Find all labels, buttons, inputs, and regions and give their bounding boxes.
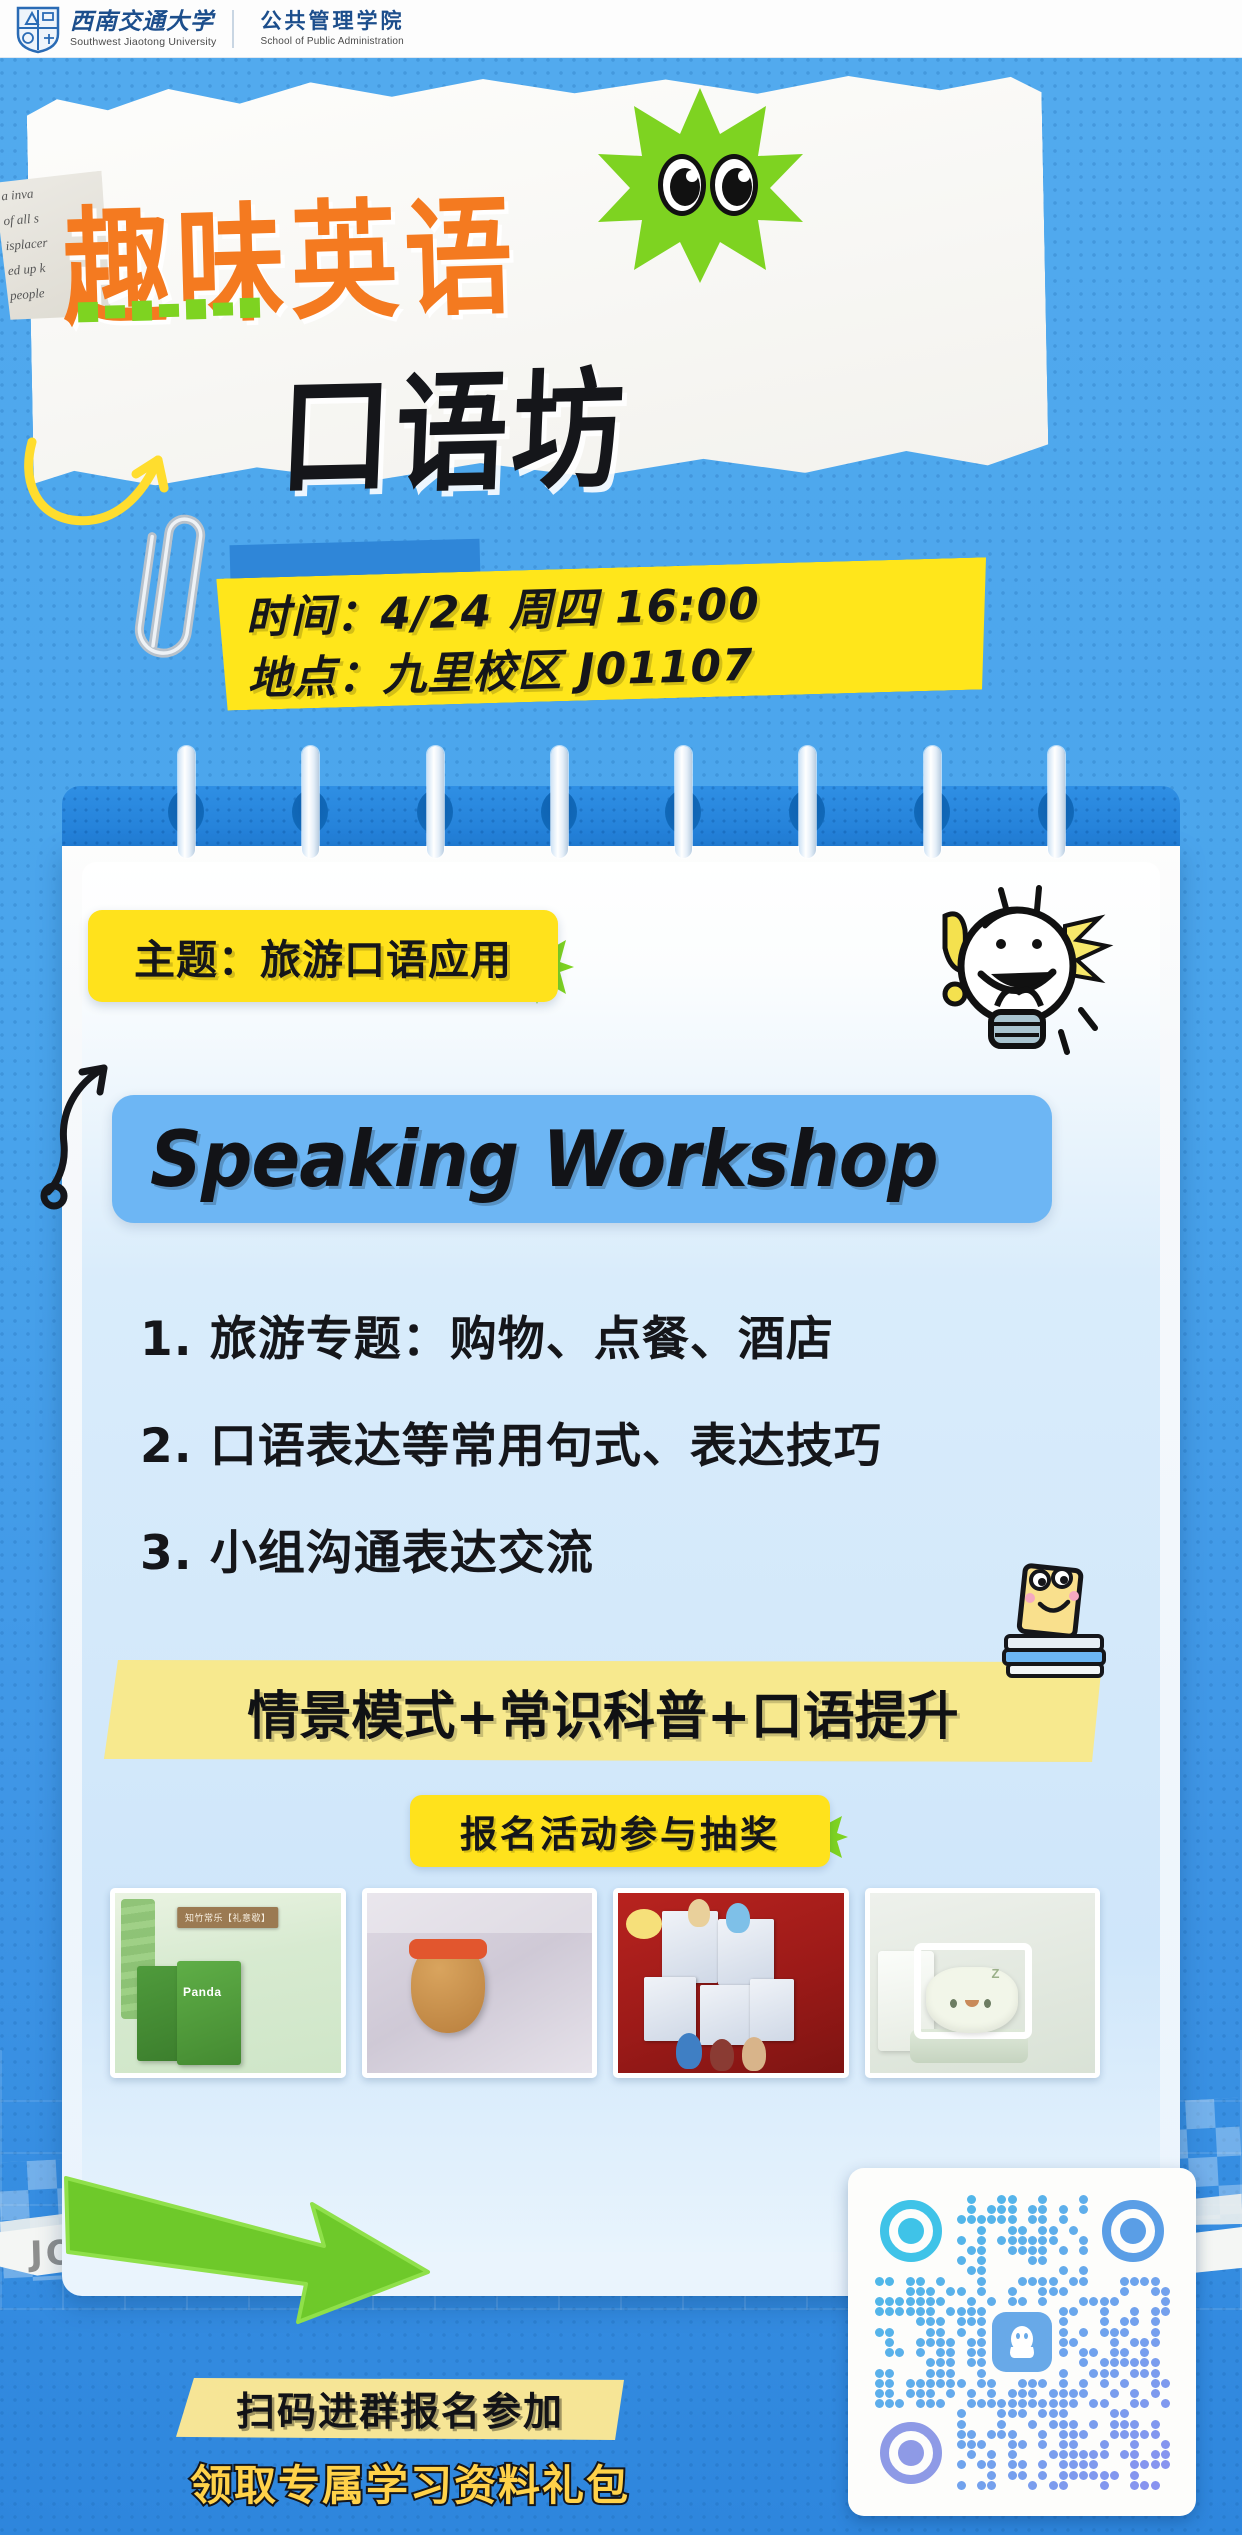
qr-dot xyxy=(1038,2226,1047,2235)
qr-dot xyxy=(946,2369,955,2378)
agenda-item: 3. 小组沟通表达交流 xyxy=(140,1514,1120,1583)
qr-dot xyxy=(977,2215,986,2224)
qr-dot xyxy=(1008,2471,1017,2480)
qr-dot xyxy=(1059,2348,1068,2357)
qr-dot xyxy=(1049,2277,1058,2286)
qr-dot xyxy=(1151,2460,1160,2469)
spiral-ring xyxy=(1048,746,1065,858)
prize-photo-row: 知竹常乐【礼意歇】 Panda Z xyxy=(110,1888,1100,2078)
qr-dot xyxy=(957,2256,966,2265)
qr-dot xyxy=(906,2277,915,2286)
qr-dot xyxy=(1008,2205,1017,2214)
qr-dot xyxy=(1079,2297,1088,2306)
qr-dot xyxy=(895,2307,904,2316)
qr-dot xyxy=(1151,2277,1160,2286)
qr-dot xyxy=(916,2277,925,2286)
qr-dot xyxy=(1038,2440,1047,2449)
qr-dot xyxy=(977,2348,986,2357)
qr-dot xyxy=(977,2317,986,2326)
qr-dot xyxy=(1049,2481,1058,2490)
qr-dot xyxy=(987,2430,996,2439)
qr-dot xyxy=(977,2399,986,2408)
prize-tag-label: 知竹常乐【礼意歇】 xyxy=(177,1907,279,1928)
qr-dot xyxy=(885,2348,894,2357)
qr-dot xyxy=(1079,2246,1088,2255)
qr-dot xyxy=(875,2389,884,2398)
qr-dot xyxy=(936,2297,945,2306)
qr-dot xyxy=(916,2287,925,2296)
qr-dot xyxy=(1089,2399,1098,2408)
qr-dot xyxy=(895,2348,904,2357)
qr-dot xyxy=(1008,2399,1017,2408)
feature-bar: 情景模式+常识科普+口语提升 xyxy=(104,1660,1102,1762)
qr-dot xyxy=(1151,2287,1160,2296)
qr-dot xyxy=(957,2440,966,2449)
qr-dot xyxy=(1038,2195,1047,2204)
qr-dot xyxy=(906,2307,915,2316)
qr-dot xyxy=(1140,2277,1149,2286)
qr-dot xyxy=(1008,2236,1017,2245)
blind-box xyxy=(644,1977,696,2041)
qr-dot xyxy=(936,2317,945,2326)
qr-dot xyxy=(946,2307,955,2316)
qr-dot xyxy=(1130,2358,1139,2367)
qr-dot xyxy=(936,2399,945,2408)
qr-dot xyxy=(1110,2409,1119,2418)
qr-dot xyxy=(1089,2420,1098,2429)
cta-line-2: 领取专属学习资料礼包 xyxy=(190,2461,630,2510)
qr-dot xyxy=(1161,2297,1170,2306)
school-name-en: School of Public Administration xyxy=(260,37,404,47)
qr-dot xyxy=(957,2481,966,2490)
qr-dot xyxy=(1079,2460,1088,2469)
qr-dot xyxy=(1161,2440,1170,2449)
figure xyxy=(710,2039,734,2071)
qr-dot xyxy=(926,2307,935,2316)
qr-dot xyxy=(1028,2277,1037,2286)
qr-dot xyxy=(957,2307,966,2316)
qr-dot xyxy=(1151,2389,1160,2398)
qr-dot xyxy=(1008,2430,1017,2439)
qr-dot xyxy=(957,2379,966,2388)
qr-dot xyxy=(987,2471,996,2480)
qr-dot xyxy=(1089,2471,1098,2480)
qr-dot xyxy=(885,2369,894,2378)
qr-dot xyxy=(1130,2460,1139,2469)
plush-scarf xyxy=(409,1939,487,1959)
qr-dot xyxy=(1018,2277,1027,2286)
qr-dot xyxy=(916,2389,925,2398)
qr-dot xyxy=(1120,2420,1129,2429)
qr-dot xyxy=(977,2307,986,2316)
qr-dot xyxy=(1110,2348,1119,2357)
qr-dot xyxy=(1038,2287,1047,2296)
spiral-ring xyxy=(551,746,568,858)
qr-dot xyxy=(1049,2450,1058,2459)
eye-left xyxy=(658,154,706,216)
sleep-z-label: Z xyxy=(992,1966,1000,1981)
qr-dot xyxy=(1100,2297,1109,2306)
qr-dot xyxy=(1028,2420,1037,2429)
qr-dot xyxy=(1038,2430,1047,2439)
agenda-item: 1. 旅游专题：购物、点餐、酒店 xyxy=(140,1300,1120,1369)
qr-dot xyxy=(1059,2420,1068,2429)
qr-dot xyxy=(1130,2338,1139,2347)
qr-dot xyxy=(936,2369,945,2378)
qr-dot xyxy=(967,2338,976,2347)
qr-dot xyxy=(1130,2307,1139,2316)
qr-dot xyxy=(1018,2389,1027,2398)
qr-dot xyxy=(916,2399,925,2408)
qr-dot xyxy=(1008,2409,1017,2418)
qr-dot xyxy=(885,2297,894,2306)
qr-dot xyxy=(946,2348,955,2357)
spiral-ring xyxy=(924,746,941,858)
qr-dot xyxy=(997,2195,1006,2204)
lightbulb-idea-icon xyxy=(905,882,1115,1082)
qr-dot xyxy=(1130,2317,1139,2326)
qr-dot xyxy=(1059,2389,1068,2398)
qr-dot xyxy=(987,2389,996,2398)
figure xyxy=(676,2033,702,2069)
qr-dot xyxy=(1151,2358,1160,2367)
qr-dot xyxy=(1089,2460,1098,2469)
topic-label: 主题：旅游口语应用 xyxy=(134,926,512,986)
qr-dot xyxy=(1038,2256,1047,2265)
qr-dot xyxy=(1069,2389,1078,2398)
qr-dot xyxy=(1151,2420,1160,2429)
qr-dot xyxy=(906,2287,915,2296)
qr-dot xyxy=(926,2317,935,2326)
agenda-item: 2. 口语表达等常用句式、表达技巧 xyxy=(140,1407,1120,1476)
qr-dot xyxy=(885,2379,894,2388)
qr-dot xyxy=(1110,2389,1119,2398)
qr-dot xyxy=(1110,2430,1119,2439)
qr-dot xyxy=(936,2328,945,2337)
qr-dot xyxy=(1130,2450,1139,2459)
qr-dot xyxy=(1161,2287,1170,2296)
qr-dot xyxy=(1140,2430,1149,2439)
qr-dot xyxy=(1038,2236,1047,2245)
qr-dot xyxy=(1038,2277,1047,2286)
qr-dot xyxy=(885,2338,894,2347)
qr-dot xyxy=(1089,2369,1098,2378)
qr-dot xyxy=(957,2236,966,2245)
qr-dot xyxy=(1069,2277,1078,2286)
qr-dot xyxy=(967,2358,976,2367)
eye-right xyxy=(710,154,758,216)
cta-line-1: 扫码进群报名参加 xyxy=(236,2381,564,2437)
qr-dot xyxy=(1028,2399,1037,2408)
qr-dot xyxy=(1161,2460,1170,2469)
qr-dot xyxy=(957,2215,966,2224)
qr-dot xyxy=(1140,2460,1149,2469)
qr-dot xyxy=(1018,2226,1027,2235)
poster-title-main: 趣味英语 xyxy=(60,155,521,352)
qr-finder-top-right xyxy=(1102,2200,1164,2262)
qq-group-qr-code[interactable] xyxy=(874,2194,1170,2490)
qr-dot xyxy=(926,2399,935,2408)
feature-bar-label: 情景模式+常识科普+口语提升 xyxy=(247,1674,958,1749)
qr-dot xyxy=(926,2389,935,2398)
qr-dot xyxy=(1100,2399,1109,2408)
qr-dot xyxy=(1100,2307,1109,2316)
qr-dot xyxy=(1049,2287,1058,2296)
qr-dot xyxy=(1008,2246,1017,2255)
qr-dot xyxy=(977,2328,986,2337)
qr-dot xyxy=(1079,2328,1088,2337)
qr-dot xyxy=(1038,2399,1047,2408)
qr-dot xyxy=(957,2420,966,2429)
qr-dot xyxy=(1151,2328,1160,2337)
qr-dot xyxy=(987,2215,996,2224)
qr-dot xyxy=(946,2389,955,2398)
qr-dot xyxy=(1079,2236,1088,2245)
qr-dot xyxy=(977,2277,986,2286)
shelf-surface xyxy=(367,1893,593,1933)
qr-dot xyxy=(926,2369,935,2378)
qr-code-card[interactable] xyxy=(848,2168,1196,2516)
topic-pill: 主题：旅游口语应用 xyxy=(88,910,558,1002)
qr-dot xyxy=(987,2205,996,2214)
qr-dot xyxy=(1110,2420,1119,2429)
qr-dot xyxy=(1008,2460,1017,2469)
qr-dot xyxy=(1130,2369,1139,2378)
qr-dot xyxy=(997,2430,1006,2439)
figure xyxy=(726,1903,750,1933)
qr-dot xyxy=(1151,2379,1160,2388)
cartoon-eyes-starburst-icon xyxy=(598,88,803,283)
prize-photo-cloud-night-light: Z xyxy=(865,1888,1101,2078)
qr-dot xyxy=(926,2287,935,2296)
qr-dot xyxy=(1110,2358,1119,2367)
qr-dot xyxy=(1140,2369,1149,2378)
figure xyxy=(742,2037,766,2071)
qr-dot xyxy=(1151,2450,1160,2459)
qr-dot xyxy=(1028,2215,1037,2224)
qr-dot xyxy=(1140,2338,1149,2347)
qr-dot xyxy=(1120,2409,1129,2418)
qr-dot xyxy=(1059,2430,1068,2439)
qr-dot xyxy=(1008,2287,1017,2296)
qr-dot xyxy=(1008,2450,1017,2459)
qr-dot xyxy=(1120,2287,1129,2296)
qr-dot xyxy=(1110,2338,1119,2347)
qr-dot xyxy=(1110,2328,1119,2337)
qr-dot xyxy=(1008,2226,1017,2235)
qr-dot xyxy=(1110,2471,1119,2480)
qr-dot xyxy=(916,2317,925,2326)
qr-dot xyxy=(967,2205,976,2214)
qr-dot xyxy=(1100,2358,1109,2367)
qr-dot xyxy=(1008,2195,1017,2204)
qr-dot xyxy=(1130,2389,1139,2398)
qr-dot xyxy=(1079,2195,1088,2204)
gift-box-front xyxy=(177,1961,241,2065)
prize-photo-panda-gift-box: 知竹常乐【礼意歇】 Panda xyxy=(110,1888,346,2078)
qr-dot xyxy=(1079,2389,1088,2398)
qr-dot xyxy=(1161,2307,1170,2316)
qr-dot xyxy=(1140,2481,1149,2490)
qr-dot xyxy=(1018,2246,1027,2255)
qr-dot xyxy=(916,2338,925,2347)
qr-dot xyxy=(1069,2338,1078,2347)
qr-dot xyxy=(1059,2328,1068,2337)
school-name-block: 公共管理学院 School of Public Administration xyxy=(260,11,404,47)
qr-dot xyxy=(936,2379,945,2388)
qr-dot xyxy=(1059,2215,1068,2224)
qr-dot xyxy=(967,2450,976,2459)
qr-dot xyxy=(1038,2471,1047,2480)
qr-dot xyxy=(1100,2481,1109,2490)
qr-dot xyxy=(977,2338,986,2347)
qr-dot xyxy=(997,2409,1006,2418)
qr-dot xyxy=(906,2297,915,2306)
qr-dot xyxy=(1038,2215,1047,2224)
qr-dot xyxy=(997,2205,1006,2214)
qr-dot xyxy=(916,2297,925,2306)
qr-dot xyxy=(875,2307,884,2316)
qr-dot xyxy=(1100,2440,1109,2449)
qr-dot xyxy=(1008,2389,1017,2398)
qr-dot xyxy=(1069,2450,1078,2459)
qr-dot xyxy=(1059,2481,1068,2490)
qr-dot xyxy=(1038,2409,1047,2418)
header-divider xyxy=(232,10,234,48)
university-header: 西南交通大学 Southwest Jiaotong University 公共管… xyxy=(0,0,1242,58)
qr-dot xyxy=(1089,2348,1098,2357)
qr-dot xyxy=(926,2379,935,2388)
qr-dot xyxy=(1140,2348,1149,2357)
qr-dot xyxy=(1069,2399,1078,2408)
qr-dot xyxy=(1059,2317,1068,2326)
qr-dot xyxy=(1059,2266,1068,2275)
qr-dot xyxy=(946,2287,955,2296)
qr-dot xyxy=(1028,2256,1037,2265)
qr-dot xyxy=(1028,2379,1037,2388)
english-banner: Speaking Workshop xyxy=(112,1095,1052,1223)
qr-dot xyxy=(1049,2226,1058,2235)
prize-photo-plush-keychain xyxy=(362,1888,598,2078)
qr-dot xyxy=(1120,2317,1129,2326)
qr-dot xyxy=(977,2369,986,2378)
blind-box xyxy=(700,1985,752,2045)
qr-dot xyxy=(916,2307,925,2316)
qr-dot xyxy=(977,2460,986,2469)
qr-dot xyxy=(875,2369,884,2378)
qr-dot xyxy=(1059,2399,1068,2408)
qr-dot xyxy=(1120,2379,1129,2388)
qr-dot xyxy=(1059,2287,1068,2296)
qr-dot xyxy=(1069,2440,1078,2449)
qr-dot xyxy=(967,2246,976,2255)
qr-dot xyxy=(1008,2297,1017,2306)
qr-dot xyxy=(895,2297,904,2306)
qr-dot xyxy=(1110,2297,1119,2306)
qr-dot xyxy=(1049,2389,1058,2398)
qr-dot xyxy=(1059,2471,1068,2480)
cta-banner-secondary: 领取专属学习资料礼包 xyxy=(0,2452,820,2513)
qr-dot xyxy=(1151,2430,1160,2439)
qr-dot xyxy=(1079,2358,1088,2367)
qr-dot xyxy=(977,2236,986,2245)
qr-dot xyxy=(946,2358,955,2367)
qr-dot xyxy=(1110,2369,1119,2378)
qr-dot xyxy=(977,2226,986,2235)
qr-dot xyxy=(977,2481,986,2490)
qr-dot xyxy=(1069,2420,1078,2429)
qr-dot xyxy=(957,2317,966,2326)
qr-dot xyxy=(987,2450,996,2459)
qr-dot xyxy=(1069,2460,1078,2469)
qr-dot xyxy=(977,2358,986,2367)
qr-dot xyxy=(1059,2338,1068,2347)
qr-dot xyxy=(1079,2205,1088,2214)
qr-dot xyxy=(1079,2450,1088,2459)
eyes-group xyxy=(658,154,758,216)
qr-dot xyxy=(895,2399,904,2408)
qr-dot xyxy=(1038,2460,1047,2469)
qr-dot xyxy=(885,2389,894,2398)
qr-dot xyxy=(977,2246,986,2255)
stacked-books-icon xyxy=(1000,1558,1110,1683)
qr-dot xyxy=(1130,2481,1139,2490)
qr-dot xyxy=(977,2379,986,2388)
qr-dot xyxy=(1038,2205,1047,2214)
spiral-ring xyxy=(427,746,444,858)
qr-dot xyxy=(885,2277,894,2286)
qr-dot xyxy=(967,2297,976,2306)
qr-dot xyxy=(967,2195,976,2204)
qr-dot xyxy=(1018,2440,1027,2449)
qr-dot xyxy=(1130,2471,1139,2480)
qr-dot xyxy=(1120,2450,1129,2459)
qr-dot xyxy=(957,2287,966,2296)
qr-dot xyxy=(1069,2430,1078,2439)
spiral-ring xyxy=(178,746,195,858)
qr-dot xyxy=(967,2348,976,2357)
qr-dot xyxy=(967,2430,976,2439)
qr-dot xyxy=(1120,2348,1129,2357)
qr-dot xyxy=(1151,2338,1160,2347)
qr-dot xyxy=(1028,2236,1037,2245)
qr-dot xyxy=(875,2399,884,2408)
qr-dot xyxy=(1079,2379,1088,2388)
qr-dot xyxy=(1120,2358,1129,2367)
qr-dot xyxy=(1079,2266,1088,2275)
qr-dot xyxy=(1008,2440,1017,2449)
qr-dot xyxy=(875,2328,884,2337)
qr-dot xyxy=(875,2379,884,2388)
qr-dot xyxy=(1018,2379,1027,2388)
qr-dot xyxy=(885,2307,894,2316)
qr-dot xyxy=(1028,2481,1037,2490)
qr-dot xyxy=(1049,2420,1058,2429)
qr-dot xyxy=(1069,2226,1078,2235)
qr-dot xyxy=(926,2297,935,2306)
university-name-en: Southwest Jiaotong University xyxy=(70,37,216,48)
qr-dot xyxy=(1140,2399,1149,2408)
qr-dot xyxy=(967,2440,976,2449)
qr-dot xyxy=(1059,2369,1068,2378)
qr-dot xyxy=(875,2297,884,2306)
qr-dot xyxy=(957,2409,966,2418)
university-shield-icon xyxy=(16,4,60,54)
qr-dot xyxy=(1120,2328,1129,2337)
qr-dot xyxy=(1120,2277,1129,2286)
cloud-eye-right xyxy=(984,1999,991,2008)
school-name-cn: 公共管理学院 xyxy=(260,11,404,32)
